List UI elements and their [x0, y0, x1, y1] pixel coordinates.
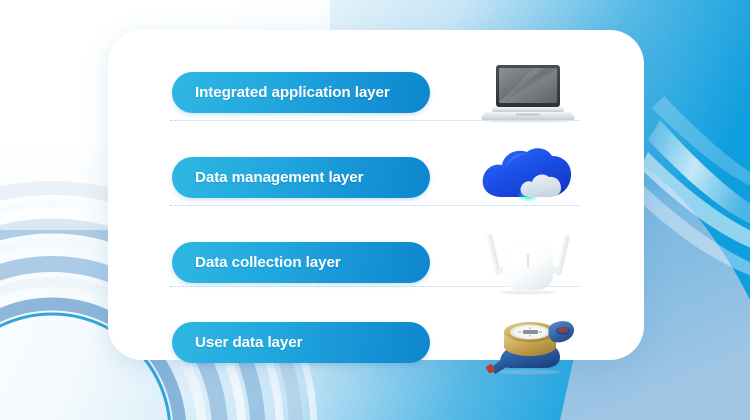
layer-pill-data-management-layer[interactable]: Data management layer — [172, 157, 430, 198]
layer-label: Data management layer — [195, 169, 363, 186]
laptop-icon — [474, 58, 582, 126]
layer-row-data-management: Data management layer — [172, 143, 586, 211]
layer-label: Integrated application layer — [195, 84, 390, 101]
layer-row-integrated-application: Integrated application layer — [172, 58, 586, 126]
content-card: Integrated application layer — [108, 30, 644, 360]
layer-row-data-collection: Data collection layer — [172, 228, 586, 296]
wifi-router-icon — [474, 228, 582, 296]
layer-row-user-data: User data layer — [172, 308, 586, 376]
cloud-icon — [474, 143, 582, 211]
layer-pill-integrated-application-layer[interactable]: Integrated application layer — [172, 72, 430, 113]
layer-label: User data layer — [195, 334, 302, 351]
layer-label: Data collection layer — [195, 254, 341, 271]
water-meter-icon — [474, 308, 582, 376]
layer-pill-user-data-layer[interactable]: User data layer — [172, 322, 430, 363]
layer-pill-data-collection-layer[interactable]: Data collection layer — [172, 242, 430, 283]
